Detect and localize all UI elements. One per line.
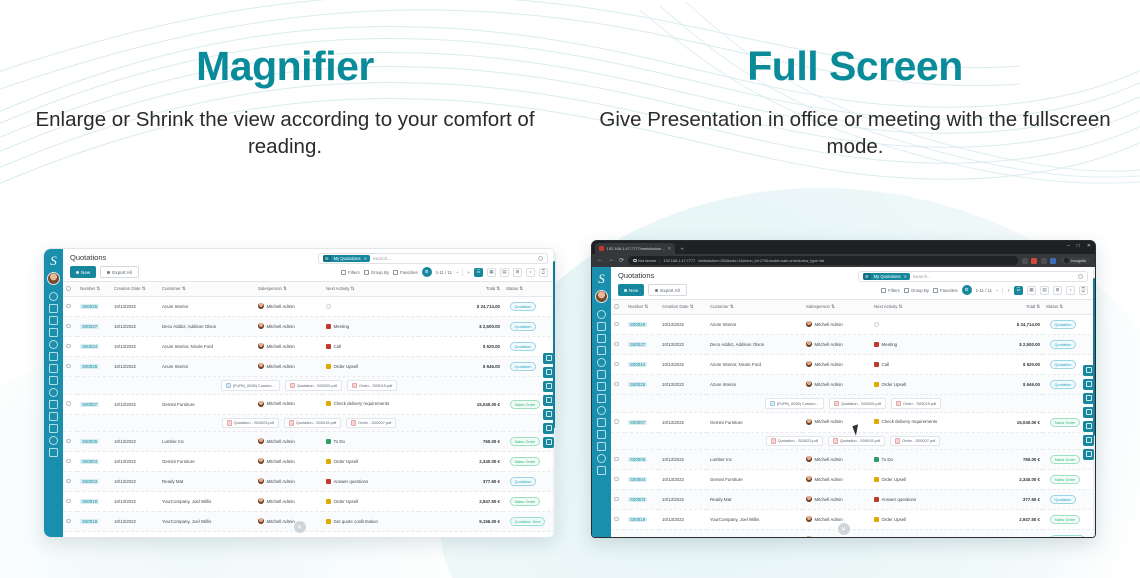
column-header-total[interactable]: Total ⇅ [967,300,1043,315]
not-secure-indicator[interactable]: Not secure [633,259,656,263]
column-header-creation-date[interactable]: Creation Date ⇅ [111,282,159,297]
attachment-chip[interactable]: (FURN_0096) Custom... [221,380,280,391]
table-row[interactable]: S0001910/13/2022YourCompany, Joel Willis… [611,510,1095,530]
status-badge: Sales Order [1050,475,1080,484]
cell-number[interactable]: S00007 [628,420,647,425]
row-checkbox[interactable] [614,419,619,424]
status-badge: Quotation [510,477,536,486]
zoom-in-button[interactable] [543,367,554,378]
cell-total: $ 24,714.00 [419,297,503,317]
cell-number[interactable]: S00007 [80,402,99,407]
cell-number[interactable]: S00027 [80,324,99,329]
column-header-customer[interactable]: Customer ⇅ [159,282,255,297]
browser-tab-title: 192.168.1.47:7777/web#action... [607,246,665,251]
plus-icon [76,271,79,274]
table-row[interactable]: S0000610/13/2022Lumber IncMitchell Admin… [611,450,1095,470]
cell-number[interactable]: S00026 [80,304,99,309]
export-all-button[interactable]: Export All [100,266,138,278]
row-checkbox[interactable] [614,497,619,502]
cell-salesperson: Mitchell Admin [255,337,323,357]
url-host: 192.168.1.47:7777 [663,259,695,263]
cell-next-activity[interactable]: Order Upsell [323,452,419,472]
remove-facet-icon[interactable]: ✕ [904,273,910,280]
avatar [806,341,812,347]
table-row[interactable]: S0002410/13/2022Azure Interior, Nicole F… [611,355,1095,375]
cell-next-activity[interactable]: To Do [323,432,419,452]
row-checkbox[interactable] [614,537,619,538]
kanban-view-button[interactable]: ▦ [487,268,496,277]
new-button[interactable]: New [70,266,96,278]
avatar [806,381,812,387]
back-icon[interactable]: ← [597,257,603,264]
cell-next-activity[interactable]: Answer questions [323,472,419,492]
pager-label[interactable]: 1-11 / 11 [976,288,992,293]
cell-status: Sales Order [1043,510,1095,530]
pivot-view-button[interactable]: ⊞ [513,268,522,277]
table-row[interactable]: S0000410/13/2022Gemini FurnitureMitchell… [611,470,1095,490]
pivot-view-button[interactable]: ⊞ [1053,286,1062,295]
sidebar-item-apps[interactable] [49,448,58,457]
attachment-chip[interactable]: (FURN_0096) Custom... [765,398,824,409]
cell-next-activity[interactable]: Order Upsell [871,470,967,490]
table-row[interactable]: S0002510/13/2022Azure InteriorMitchell A… [63,357,555,377]
cell-salesperson: Mitchell Admin [803,450,871,470]
feature-fullscreen: Full Screen Give Presentation in office … [570,0,1140,161]
zoom-in-button[interactable]: + [467,270,470,275]
close-tab-icon[interactable]: ✕ [668,246,672,252]
window-controls: – □ ✕ [1067,243,1091,249]
cell-next-activity[interactable]: Call [871,355,967,375]
search-facet: ☰My Quotations✕ [863,273,910,280]
browser-tab[interactable]: 192.168.1.47:7777/web#action... ✕ [595,243,675,254]
settings-button[interactable] [543,437,554,448]
sidebar-item-inventory[interactable] [49,364,58,373]
search-facet-label: My Quotations [331,255,364,262]
column-header-creation-date[interactable]: Creation Date ⇅ [659,300,707,315]
maximize-icon[interactable]: □ [1077,243,1080,249]
column-header-number[interactable]: Number ⇅ [77,282,111,297]
row-checkbox[interactable] [614,322,619,327]
cell-creation-date: 10/13/2022 [111,337,159,357]
cell-customer: Azure Interior, Nicole Ford [159,337,255,357]
layout-icon [1086,437,1092,443]
avatar[interactable] [47,272,60,285]
attachment-chip[interactable]: Order - S00015.pdf [347,380,397,391]
zoom-reset-button[interactable] [543,353,554,364]
table-row[interactable]: S0002510/13/2022Azure InteriorMitchell A… [611,375,1095,395]
activity-view-button[interactable]: ⌚ [539,268,548,277]
sidebar-item-contacts[interactable] [49,328,58,337]
table-row[interactable]: S0000310/13/2022Ready MatMitchell AdminA… [63,472,555,492]
column-header-status[interactable]: Status ⇅ [1043,300,1095,315]
filter-icon [341,270,346,275]
cell-total: $ 520.00 [419,337,503,357]
row-checkbox[interactable] [614,457,619,462]
sidebar-item-calculator[interactable] [597,454,606,463]
sidebar-item-employees[interactable] [49,412,58,421]
status-badge: Quotation [510,322,536,331]
sidebar-item-calendar[interactable] [49,316,58,325]
favorites-menu[interactable]: Favorites [393,270,418,275]
new-tab-button[interactable]: + [680,247,684,253]
table-row[interactable]: S0000710/13/2022Gemini FurnitureMitchell… [63,394,555,414]
row-checkbox[interactable] [66,439,71,444]
incognito-badge[interactable]: Incognito [1060,257,1090,264]
cell-creation-date: 10/13/2022 [111,432,159,452]
status-badge: Sales Order [510,497,540,506]
attachment-chip[interactable]: Order - S00007.pdf [890,436,940,447]
cell-salesperson: Mitchell Admin [803,412,871,432]
app-sidebar: S [592,267,611,538]
table-row[interactable]: S0002710/13/2022Deco Addict, Addison Ols… [611,335,1095,355]
avatar[interactable] [595,290,608,303]
cell-total: $ 2,500.00 [967,335,1043,355]
cell-number[interactable]: S00018 [80,519,99,524]
cell-number[interactable]: S00003 [80,479,99,484]
image-file-icon [770,401,775,407]
row-checkbox[interactable] [614,382,619,387]
cell-number[interactable]: S00024 [80,344,99,349]
row-checkbox[interactable] [614,477,619,482]
cell-creation-date: 10/13/2022 [111,357,159,377]
view-toolbar: FiltersGroup ByFavorites⚙1-11 / 11−+☰▦▤⊞… [341,267,548,277]
incognito-icon [1064,258,1069,263]
extension-blue-icon[interactable] [1050,258,1056,264]
table-row[interactable]: S0001810/13/2022YourCompany, Joel Willis… [611,530,1095,539]
status-badge: Sales Order [1050,515,1080,524]
sidebar-item-scissors[interactable] [49,388,58,397]
cell-next-activity[interactable]: Check delivery requirements [323,394,419,414]
table-row[interactable]: S0002610/13/2022Azure InteriorMitchell A… [611,315,1095,335]
sidebar-item-calendar[interactable] [597,334,606,343]
table-row[interactable]: S0002410/13/2022Azure Interior, Nicole F… [63,337,555,357]
breadcrumb: Quotations [70,253,139,262]
cell-salesperson: Mitchell Admin [803,335,871,355]
calendar-view-button[interactable]: ▤ [500,268,509,277]
cell-next-activity[interactable]: Order Upsell [323,532,419,538]
status-badge: Quotation [1050,320,1076,329]
attachment-chip[interactable]: Quotation - S00023.pdf [766,436,823,447]
kanban-view-button[interactable]: ▦ [1027,286,1036,295]
sidebar-item-people[interactable] [597,442,606,451]
row-checkbox[interactable] [66,459,71,464]
cell-number[interactable]: S00006 [80,439,99,444]
zoom-in-button[interactable]: + [1007,288,1010,293]
layout-button[interactable] [1083,435,1094,446]
sidebar-item-settings-gear[interactable] [49,340,58,349]
attachment-chip[interactable]: Quotation - S00025.pdf [829,398,886,409]
zoom-out-button[interactable] [1083,393,1094,404]
avatar [258,518,264,524]
row-checkbox[interactable] [66,304,71,309]
magnifier-button[interactable]: ⚙ [422,267,432,277]
cell-salesperson: Mitchell Admin [255,512,323,532]
activity-check-icon [326,401,331,406]
cell-number[interactable]: S00025 [80,364,99,369]
zoom-out-button[interactable] [543,381,554,392]
address-bar[interactable]: Not secure | 192.168.1.47:7777 /web#acti… [628,256,1018,265]
filters-menu[interactable]: Filters [881,288,900,293]
cell-next-activity[interactable]: Check delivery requirements [871,412,967,432]
activity-view-button[interactable]: ⌚ [1079,286,1088,295]
quotations-table: Number ⇅Creation Date ⇅Customer ⇅Salespe… [611,300,1095,538]
pager-label[interactable]: 1-11 / 11 [436,270,452,275]
list-view-button[interactable]: ☰ [1014,286,1023,295]
new-button[interactable]: New [618,284,644,296]
app-main: QuotationsNewExport All☰My Quotations✕Se… [63,249,555,537]
table-row[interactable]: S0000210/13/2022Ready MatMitchell AdminO… [63,532,555,538]
cell-salesperson: Mitchell Admin [803,490,871,510]
feature-magnifier: Magnifier Enlarge or Shrink the view acc… [0,0,570,161]
cell-next-activity[interactable]: Meeting [871,335,967,355]
extension-record-icon[interactable] [1031,258,1037,264]
zoom-out-button[interactable]: − [456,270,459,275]
graph-view-button[interactable]: ᵛ [526,268,535,277]
attachment-chip[interactable]: Quotation - S00015.pdf [284,418,341,429]
row-checkbox[interactable] [66,344,71,349]
row-checkbox[interactable] [66,401,71,406]
zoom-out-button[interactable]: − [996,288,999,293]
graph-view-button[interactable]: ᵛ [1066,286,1075,295]
row-checkbox[interactable] [614,342,619,347]
cell-customer: Gemini Furniture [159,394,255,414]
status-badge: Sales Order [510,437,540,446]
print-button[interactable] [1083,421,1094,432]
cell-next-activity[interactable]: Answer questions [871,490,967,510]
cell-number[interactable]: S00019 [80,499,99,504]
cell-number[interactable]: S00004 [80,459,99,464]
favorites-menu[interactable]: Favorites [933,288,958,293]
cell-next-activity[interactable]: Meeting [323,317,419,337]
row-checkbox[interactable] [66,499,71,504]
extension-icon[interactable] [1022,258,1028,264]
sidebar-item-inventory[interactable] [597,382,606,391]
forward-icon[interactable]: → [608,257,614,264]
cell-number[interactable]: S00004 [628,477,647,482]
sidebar-item-contacts[interactable] [597,346,606,355]
row-checkbox[interactable] [66,364,71,369]
column-header-salesperson[interactable]: Salesperson ⇅ [803,300,871,315]
cell-status: Quotation [503,472,555,492]
browser-nav-buttons: ← → ⟳ [597,257,624,264]
cell-salesperson: Mitchell Admin [255,472,323,492]
cell-creation-date: 10/13/2022 [659,315,707,335]
activity-quote-icon [874,537,879,539]
filters-menu[interactable]: Filters [341,270,360,275]
column-header-next-activity[interactable]: Next Activity ⇅ [871,300,967,315]
activity-upsell-icon [874,477,879,482]
minimize-icon[interactable]: – [1067,243,1070,249]
zoom-reset-button[interactable] [1083,365,1094,376]
control-panel: QuotationsNewExport All☰My Quotations✕Se… [611,267,1095,300]
attachment-chip[interactable]: Quotation - S00015.pdf [828,436,885,447]
cell-total: 760.00 € [419,432,503,452]
cell-next-activity[interactable]: Order Upsell [871,375,967,395]
app-logo[interactable]: S [594,270,609,287]
remove-facet-icon[interactable]: ✕ [364,255,370,262]
cell-creation-date: 10/13/2022 [111,492,159,512]
url-path: /web#action=250&cids=1&menu_id=179&model… [698,259,824,263]
zoom-out-icon [546,383,552,389]
cell-next-activity[interactable]: Order Upsell [323,492,419,512]
row-checkbox[interactable] [614,362,619,367]
app-logo[interactable]: S [46,252,61,269]
avatar [806,476,812,482]
row-checkbox[interactable] [66,479,71,484]
reload-icon[interactable]: ⟳ [619,257,624,264]
cell-total: $ 24,714.00 [967,315,1043,335]
search-input[interactable]: Search... [373,256,535,261]
attachment-chip[interactable]: Order - S00015.pdf [891,398,941,409]
table-row[interactable]: S0000410/13/2022Gemini FurnitureMitchell… [63,452,555,472]
cell-number[interactable]: S00025 [628,382,647,387]
activity-quote-icon [326,519,331,524]
magnifier-button[interactable]: ⚙ [962,285,972,295]
row-checkbox[interactable] [614,517,619,522]
table-row[interactable]: S0000610/13/2022Lumber IncMitchell Admin… [63,432,555,452]
cell-customer: Gemini Furniture [707,412,803,432]
sidebar-item-people[interactable] [49,424,58,433]
sidebar-item-notes[interactable] [49,400,58,409]
browser-device-mockup: 192.168.1.47:7777/web#action... ✕ + – □ … [591,240,1096,538]
search-dropdown-icon[interactable] [1078,274,1083,279]
attachment-chip[interactable]: Order - S00007.pdf [346,418,396,429]
sidebar-item-reporting[interactable] [597,370,606,379]
cell-total: 2,340.00 € [967,470,1043,490]
cell-next-activity[interactable]: To Do [871,450,967,470]
column-header-next-activity[interactable]: Next Activity ⇅ [323,282,419,297]
zoom-in-button[interactable] [1083,379,1094,390]
sidebar-item-employees[interactable] [597,430,606,439]
cell-customer: Ready Mat [707,490,803,510]
cell-customer: Azure Interior, Nicole Ford [707,355,803,375]
sidebar-item-settings-gear[interactable] [597,358,606,367]
status-badge: Quotation [510,362,536,371]
sidebar-item-discuss[interactable] [49,292,58,301]
column-header-customer[interactable]: Customer ⇅ [707,300,803,315]
table-row[interactable]: S0002710/13/2022Deco Addict, Addison Ols… [63,317,555,337]
list-sheet[interactable]: Number ⇅Creation Date ⇅Customer ⇅Salespe… [611,300,1095,538]
list-view-button[interactable]: ☰ [474,268,483,277]
cell-salesperson: Mitchell Admin [255,532,323,538]
table-row[interactable]: S0001910/13/2022YourCompany, Joel Willis… [63,492,555,512]
sidebar-item-grid[interactable] [597,394,606,403]
cell-number[interactable]: S00019 [628,517,647,522]
status-badge: Quotation Sent [510,517,545,526]
cell-status: Quotation [1043,335,1095,355]
quotations-table: Number ⇅Creation Date ⇅Customer ⇅Salespe… [63,282,555,537]
status-badge: Quotation [1050,340,1076,349]
column-header-salesperson[interactable]: Salesperson ⇅ [255,282,323,297]
close-overlay-button[interactable]: ✕ [294,521,306,533]
search-bar[interactable]: ☰My Quotations✕Search... [858,271,1088,282]
pdf-file-icon [227,420,232,426]
cell-number[interactable]: S00018 [628,537,647,538]
sidebar-item-apps[interactable] [597,466,606,475]
cell-number[interactable]: S00006 [628,457,647,462]
sidebar-item-reporting[interactable] [49,352,58,361]
group-by-menu[interactable]: Group By [364,270,389,275]
cell-creation-date: 10/13/2022 [111,472,159,492]
attachment-chip[interactable]: Quotation - S00023.pdf [222,418,279,429]
activity-call-icon [326,344,331,349]
column-header-total[interactable]: Total ⇅ [419,282,503,297]
cell-creation-date: 10/13/2022 [111,452,159,472]
column-header-number[interactable]: Number ⇅ [625,300,659,315]
sidebar-item-scissors[interactable] [597,406,606,415]
sidebar-item-grid[interactable] [49,376,58,385]
cell-next-activity[interactable]: Order Upsell [323,357,419,377]
search-input[interactable]: Search... [913,274,1075,279]
layout-button[interactable] [543,423,554,434]
attachment-chip[interactable]: Quotation - S00025.pdf [285,380,342,391]
close-overlay-button[interactable]: ✕ [838,523,850,535]
cell-number[interactable]: S00003 [628,497,647,502]
column-header-status[interactable]: Status ⇅ [503,282,555,297]
table-row[interactable]: S0000310/13/2022Ready MatMitchell AdminA… [611,490,1095,510]
table-row[interactable]: S0001810/13/2022YourCompany, Joel Willis… [63,512,555,532]
cell-customer: Azure Interior [159,297,255,317]
close-window-icon[interactable]: ✕ [1087,243,1091,249]
activity-todo-icon [874,457,879,462]
sidebar-item-filter[interactable] [597,322,606,331]
cell-total: 2,340.00 € [419,452,503,472]
avatar [258,323,264,329]
cell-next-activity[interactable] [871,315,967,335]
cell-total: 377.60 € [419,472,503,492]
bookmark-icon[interactable] [1041,258,1047,264]
print-button[interactable] [543,409,554,420]
search-dropdown-icon[interactable] [538,256,543,261]
search-facet: ☰My Quotations✕ [323,255,370,262]
cell-next-activity[interactable] [323,297,419,317]
search-bar[interactable]: ☰My Quotations✕Search... [318,253,548,264]
group-by-menu[interactable]: Group By [904,288,929,293]
app-sidebar: S [44,249,63,537]
cell-next-activity[interactable]: Get quote confirmation [871,530,967,539]
calendar-view-button[interactable]: ▤ [1040,286,1049,295]
cell-salesperson: Mitchell Admin [803,315,871,335]
cell-next-activity[interactable]: Order Upsell [871,510,967,530]
control-panel: QuotationsNewExport All☰My Quotations✕Se… [63,249,555,282]
cell-next-activity[interactable]: Call [323,337,419,357]
cell-number[interactable]: S00026 [628,322,647,327]
list-sheet[interactable]: Number ⇅Creation Date ⇅Customer ⇅Salespe… [63,282,555,537]
select-all-checkbox[interactable] [66,286,71,291]
cell-number[interactable]: S00027 [628,342,647,347]
sidebar-item-calculator[interactable] [49,436,58,445]
select-all-checkbox[interactable] [614,304,619,309]
star-icon [393,270,398,275]
export-all-button[interactable]: Export All [648,284,686,296]
settings-button[interactable] [1083,449,1094,460]
sidebar-item-filter[interactable] [49,304,58,313]
cell-next-activity[interactable]: Get quote confirmation [323,512,419,532]
sidebar-item-notes[interactable] [597,418,606,427]
cell-status: Sales Order [1043,470,1095,490]
cell-customer: YourCompany, Joel Willis [707,510,803,530]
cell-number[interactable]: S00024 [628,362,647,367]
row-checkbox[interactable] [66,324,71,329]
table-row[interactable]: S0002610/13/2022Azure InteriorMitchell A… [63,297,555,317]
fullscreen-button[interactable] [543,395,554,406]
fullscreen-icon [1086,409,1092,415]
status-badge: Sales Order [1050,455,1080,464]
fullscreen-button[interactable] [1083,407,1094,418]
row-checkbox[interactable] [66,519,71,524]
not-secure-label: Not secure [638,259,656,263]
sidebar-item-discuss[interactable] [597,310,606,319]
